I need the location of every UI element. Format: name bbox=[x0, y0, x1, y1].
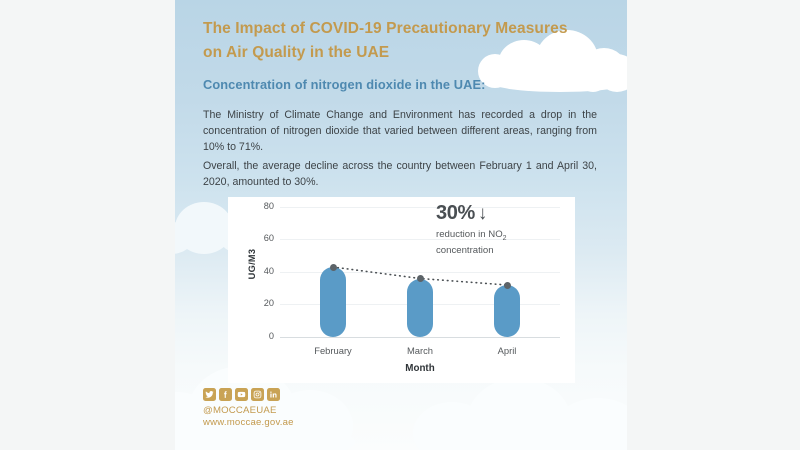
bar-march bbox=[407, 279, 433, 338]
down-arrow-icon: ↓ bbox=[478, 204, 487, 223]
x-tick-label-march: March bbox=[380, 345, 460, 356]
callout-headline: 30% ↓ bbox=[436, 203, 564, 223]
y-tick-label-40: 40 bbox=[248, 266, 274, 276]
page-title: The Impact of COVID-19 Precautionary Mea… bbox=[203, 17, 573, 65]
x-tick-label-april: April bbox=[467, 345, 547, 356]
callout-percent: 30% bbox=[436, 203, 475, 223]
body-paragraph-1: The Ministry of Climate Change and Envir… bbox=[203, 108, 597, 156]
y-tick-label-80: 80 bbox=[248, 201, 274, 211]
social-handle: @MOCCAEUAE bbox=[203, 405, 294, 416]
data-point-february bbox=[330, 264, 337, 271]
body-paragraph-2: Overall, the average decline across the … bbox=[203, 159, 597, 191]
callout-subscript: 2 bbox=[503, 235, 507, 242]
website-url[interactable]: www.moccae.gov.ae bbox=[203, 417, 294, 428]
instagram-icon[interactable] bbox=[251, 388, 264, 401]
y-tick-label-20: 20 bbox=[248, 298, 274, 308]
letterbox-right bbox=[627, 0, 800, 450]
linkedin-icon[interactable] bbox=[267, 388, 280, 401]
letterbox-left bbox=[0, 0, 175, 450]
bar-february bbox=[320, 267, 346, 337]
axis-baseline bbox=[280, 337, 560, 338]
social-links-row bbox=[203, 388, 294, 401]
facebook-icon[interactable] bbox=[219, 388, 232, 401]
chart-panel: UG/M3 80 60 40 20 0 bbox=[228, 197, 575, 383]
data-point-march bbox=[417, 275, 424, 282]
twitter-icon[interactable] bbox=[203, 388, 216, 401]
chart-y-axis-title: UG/M3 bbox=[247, 234, 257, 294]
callout-line-2: concentration bbox=[436, 245, 494, 256]
y-tick-label-60: 60 bbox=[248, 233, 274, 243]
callout-line-1: reduction in NO bbox=[436, 229, 503, 240]
bar-april bbox=[494, 285, 520, 337]
callout-description: reduction in NO2 concentration bbox=[436, 228, 564, 257]
reduction-callout: 30% ↓ reduction in NO2 concentration bbox=[436, 203, 564, 257]
x-tick-label-february: February bbox=[293, 345, 373, 356]
section-subtitle: Concentration of nitrogen dioxide in the… bbox=[203, 77, 583, 92]
youtube-icon[interactable] bbox=[235, 388, 248, 401]
data-point-april bbox=[504, 282, 511, 289]
footer: @MOCCAEUAE www.moccae.gov.ae bbox=[203, 388, 294, 428]
y-tick-label-0: 0 bbox=[248, 331, 274, 341]
infographic-poster: The Impact of COVID-19 Precautionary Mea… bbox=[175, 0, 627, 450]
chart-plot-area: UG/M3 80 60 40 20 0 bbox=[228, 197, 575, 383]
cloud-right-edge bbox=[579, 52, 627, 92]
screenshot-stage: The Impact of COVID-19 Precautionary Mea… bbox=[0, 0, 800, 450]
chart-x-axis-title: Month bbox=[280, 363, 560, 374]
